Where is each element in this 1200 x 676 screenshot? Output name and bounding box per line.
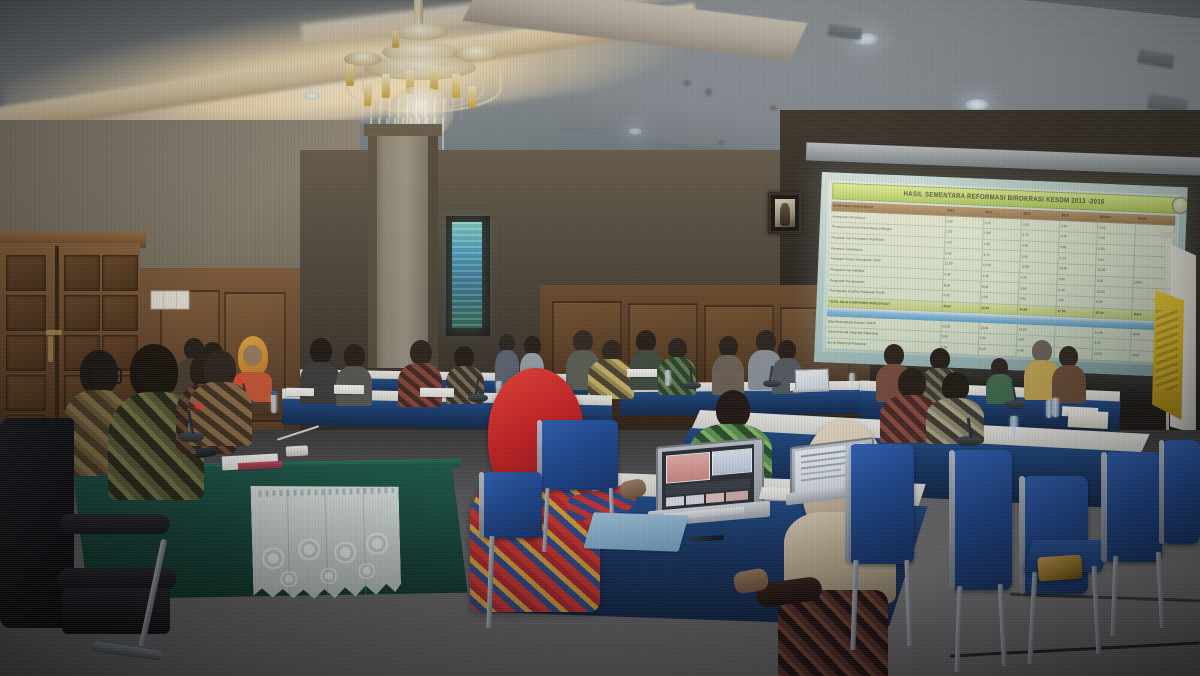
attendee xyxy=(712,336,744,392)
door-carved-panel xyxy=(64,255,100,291)
document-stack xyxy=(334,385,364,395)
light-switch-3[interactable] xyxy=(177,292,188,308)
floor-tile-line xyxy=(900,620,1200,621)
door-carved-panel xyxy=(102,255,138,291)
column-trim-right xyxy=(428,128,438,368)
structural-column xyxy=(372,128,434,368)
blue-banquet-chair[interactable] xyxy=(1104,452,1162,562)
water-bottle xyxy=(271,394,277,413)
sprinkler-head-icon xyxy=(718,140,725,146)
bottle-cap xyxy=(271,391,277,395)
column-trim-left xyxy=(368,128,377,368)
projection-screen: HASIL SEMENTARA REFORMASI BIROKRASI KESD… xyxy=(814,172,1188,377)
gold-handbag-on-chair xyxy=(1037,554,1083,581)
column-cap xyxy=(364,124,442,136)
sprinkler-head-icon xyxy=(770,105,777,111)
meeting-room-photo: HASIL SEMENTARA REFORMASI BIROKRASI KESD… xyxy=(0,0,1200,676)
presentation-slide: HASIL SEMENTARA REFORMASI BIROKRASI KESD… xyxy=(822,180,1180,366)
blue-banquet-chair[interactable] xyxy=(1162,440,1200,544)
blue-banquet-chair[interactable] xyxy=(482,472,542,538)
ministry-seal-logo xyxy=(1171,196,1187,214)
conference-microphone[interactable] xyxy=(763,380,781,387)
blue-banquet-chair[interactable] xyxy=(952,450,1012,590)
attendee-left-4 xyxy=(188,348,252,440)
water-bottle xyxy=(849,373,855,390)
door-pull-icon[interactable] xyxy=(48,336,53,362)
cell: 8,40 xyxy=(978,345,1017,357)
blue-banquet-chair[interactable] xyxy=(540,420,618,490)
sprinkler-head-icon xyxy=(683,80,691,86)
black-office-chair[interactable] xyxy=(0,418,170,676)
power-adapter xyxy=(286,445,308,456)
document-stack xyxy=(627,369,657,377)
water-bottle xyxy=(1046,400,1052,418)
light-switch-2[interactable] xyxy=(164,292,175,308)
door-carved-panel xyxy=(64,295,100,331)
blue-banquet-chair[interactable] xyxy=(848,444,914,564)
attendee-right-multicolor xyxy=(926,372,984,438)
microphone-led xyxy=(196,404,201,409)
attendee xyxy=(986,358,1014,402)
door-handle-icon[interactable] xyxy=(46,330,62,335)
door-carved-panel xyxy=(6,375,46,411)
cell: 10,00 xyxy=(1093,349,1132,361)
wall-light-switch-plate[interactable] xyxy=(150,290,190,310)
conference-microphone[interactable] xyxy=(1004,400,1026,409)
downlight-icon xyxy=(304,92,320,100)
framed-wall-portrait xyxy=(768,192,802,234)
white-lace-table-runner xyxy=(250,482,401,604)
background-monitor-content xyxy=(452,222,482,328)
door-carved-panel xyxy=(102,295,138,331)
downlight-icon xyxy=(628,128,642,135)
blue-document-folder[interactable] xyxy=(583,512,688,551)
tissue-box xyxy=(1068,410,1109,429)
conference-microphone[interactable] xyxy=(683,382,701,389)
door-carved-panel xyxy=(6,255,46,291)
water-bottle xyxy=(1052,398,1059,417)
document-stack xyxy=(420,388,454,398)
door-carved-panel xyxy=(6,335,46,371)
sprinkler-head-icon xyxy=(705,88,712,96)
water-bottle xyxy=(665,370,671,386)
slide-title: HASIL SEMENTARA REFORMASI BIROKRASI KESD… xyxy=(903,190,1104,206)
slide-data-table: KOMPONEN PENGUNGKIT 2013 2014 2015 2016 … xyxy=(826,201,1175,363)
flag-emblem xyxy=(1156,310,1178,390)
door-carved-panel xyxy=(6,295,46,331)
water-bottle xyxy=(1010,416,1018,438)
light-switch-1[interactable] xyxy=(152,292,163,308)
attendee xyxy=(1052,346,1086,400)
document-stack xyxy=(286,388,314,396)
